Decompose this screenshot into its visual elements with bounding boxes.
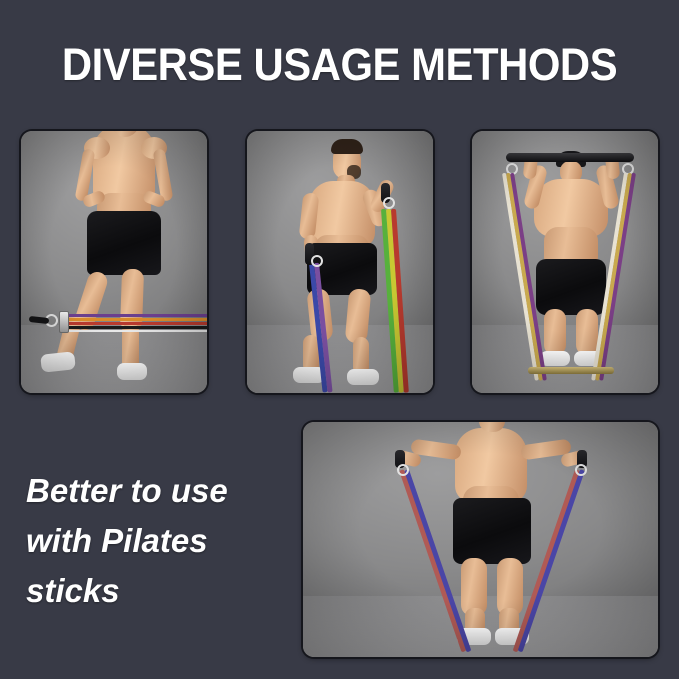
caption-line-2: with Pilates bbox=[26, 516, 286, 566]
usage-panel-handle-pull bbox=[247, 131, 433, 393]
usage-panel-overhead-bar bbox=[472, 131, 658, 393]
caption-block: Better to use with Pilates sticks bbox=[26, 466, 286, 616]
caption-line-1: Better to use bbox=[26, 466, 286, 516]
panel-vignette bbox=[303, 422, 658, 657]
panel-vignette bbox=[21, 131, 207, 393]
panel-vignette bbox=[472, 131, 658, 393]
page-title: DIVERSE USAGE METHODS bbox=[24, 40, 655, 90]
caption-line-3: sticks bbox=[26, 566, 286, 616]
panel-vignette bbox=[247, 131, 433, 393]
usage-panel-lateral-raise bbox=[303, 422, 658, 657]
usage-panel-leg-kickback bbox=[21, 131, 207, 393]
poster-canvas: DIVERSE USAGE METHODS bbox=[0, 0, 679, 679]
